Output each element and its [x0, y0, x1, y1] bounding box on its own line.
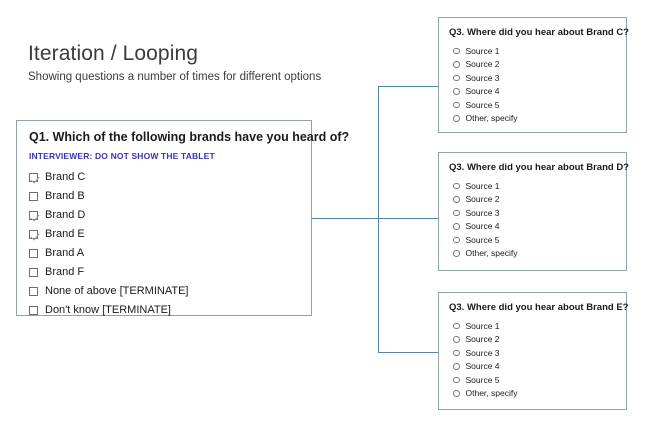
- radio-unchecked-icon[interactable]: [453, 115, 460, 122]
- q1-option-row[interactable]: None of above [TERMINATE]: [29, 283, 299, 301]
- q3-option-label: Source 2: [466, 195, 500, 204]
- radio-unchecked-icon[interactable]: [453, 48, 460, 55]
- radio-unchecked-icon[interactable]: [453, 390, 460, 397]
- q1-option-row[interactable]: Brand E: [29, 226, 299, 244]
- q3-option-row[interactable]: Source 1: [449, 319, 626, 333]
- q3-option-label: Source 2: [466, 335, 500, 344]
- q3-option-row[interactable]: Other, specify: [449, 247, 626, 261]
- checkbox-unchecked-icon[interactable]: [29, 268, 38, 277]
- q1-option-list: Brand CBrand BBrand DBrand EBrand ABrand…: [29, 169, 299, 320]
- q3-option-row[interactable]: Source 1: [449, 179, 626, 193]
- radio-unchecked-icon[interactable]: [453, 61, 460, 68]
- q3-option-row[interactable]: Source 3: [449, 206, 626, 220]
- q3-option-row[interactable]: Source 3: [449, 346, 626, 360]
- radio-unchecked-icon[interactable]: [453, 350, 460, 357]
- heading-block: Iteration / Looping Showing questions a …: [28, 42, 388, 85]
- q1-title: Q1. Which of the following brands have y…: [29, 130, 299, 146]
- page-title: Iteration / Looping: [28, 42, 388, 66]
- question-card-q3-brand-d: Q3. Where did you hear about Brand D? So…: [438, 152, 627, 271]
- q1-option-label: Brand B: [45, 191, 85, 202]
- radio-unchecked-icon[interactable]: [453, 237, 460, 244]
- q3-title: Q3. Where did you hear about Brand E?: [449, 302, 626, 313]
- connector-branch-top: [378, 86, 438, 87]
- q1-interviewer-note: INTERVIEWER: DO NOT SHOW THE TABLET: [29, 151, 299, 161]
- q1-option-row[interactable]: Brand B: [29, 188, 299, 206]
- radio-unchecked-icon[interactable]: [453, 196, 460, 203]
- q1-option-label: None of above [TERMINATE]: [45, 286, 188, 297]
- q3-option-row[interactable]: Source 2: [449, 333, 626, 347]
- checkbox-unchecked-icon[interactable]: [29, 306, 38, 315]
- q3-option-label: Source 5: [466, 101, 500, 110]
- checkbox-checked-icon[interactable]: [29, 230, 38, 239]
- q3-option-label: Other, specify: [466, 114, 518, 123]
- question-card-q3-brand-e: Q3. Where did you hear about Brand E? So…: [438, 292, 627, 410]
- checkbox-unchecked-icon[interactable]: [29, 287, 38, 296]
- q1-option-label: Brand C: [45, 172, 85, 183]
- q3-option-label: Other, specify: [466, 389, 518, 398]
- connector-branch-bottom: [378, 352, 438, 353]
- q3-title: Q3. Where did you hear about Brand D?: [449, 162, 626, 173]
- radio-unchecked-icon[interactable]: [453, 102, 460, 109]
- q3-option-label: Source 1: [466, 47, 500, 56]
- q1-option-label: Don't know [TERMINATE]: [45, 305, 171, 316]
- q3-option-label: Source 3: [466, 74, 500, 83]
- checkbox-unchecked-icon[interactable]: [29, 192, 38, 201]
- q1-option-row[interactable]: Brand F: [29, 264, 299, 282]
- diagram-canvas: Iteration / Looping Showing questions a …: [0, 0, 652, 429]
- q3-option-row[interactable]: Source 4: [449, 360, 626, 374]
- q3-option-label: Source 5: [466, 376, 500, 385]
- q3-option-label: Other, specify: [466, 249, 518, 258]
- q1-option-label: Brand E: [45, 229, 85, 240]
- q3-option-list: Source 1Source 2Source 3Source 4Source 5…: [449, 319, 626, 400]
- radio-unchecked-icon[interactable]: [453, 75, 460, 82]
- radio-unchecked-icon[interactable]: [453, 336, 460, 343]
- radio-unchecked-icon[interactable]: [453, 210, 460, 217]
- q3-option-label: Source 3: [466, 209, 500, 218]
- q1-option-row[interactable]: Brand A: [29, 245, 299, 263]
- q1-option-label: Brand A: [45, 248, 84, 259]
- q3-option-label: Source 5: [466, 236, 500, 245]
- q1-option-label: Brand D: [45, 210, 85, 221]
- q3-option-row[interactable]: Other, specify: [449, 112, 626, 126]
- q3-option-label: Source 4: [466, 222, 500, 231]
- radio-unchecked-icon[interactable]: [453, 183, 460, 190]
- checkbox-checked-icon[interactable]: [29, 211, 38, 220]
- q3-option-row[interactable]: Source 2: [449, 58, 626, 72]
- page-subtitle: Showing questions a number of times for …: [28, 71, 388, 85]
- q3-option-row[interactable]: Source 5: [449, 373, 626, 387]
- q1-option-row[interactable]: Don't know [TERMINATE]: [29, 302, 299, 320]
- q3-option-row[interactable]: Source 1: [449, 44, 626, 58]
- radio-unchecked-icon[interactable]: [453, 250, 460, 257]
- radio-unchecked-icon[interactable]: [453, 323, 460, 330]
- connector-stem: [311, 218, 438, 219]
- connector-trunk: [378, 86, 379, 353]
- q1-option-row[interactable]: Brand C: [29, 169, 299, 187]
- checkbox-unchecked-icon[interactable]: [29, 249, 38, 258]
- q3-option-label: Source 1: [466, 322, 500, 331]
- radio-unchecked-icon[interactable]: [453, 377, 460, 384]
- q3-option-row[interactable]: Source 2: [449, 193, 626, 207]
- q3-option-list: Source 1Source 2Source 3Source 4Source 5…: [449, 179, 626, 260]
- radio-unchecked-icon[interactable]: [453, 223, 460, 230]
- q3-option-row[interactable]: Source 4: [449, 220, 626, 234]
- q3-option-label: Source 1: [466, 182, 500, 191]
- question-card-q1: Q1. Which of the following brands have y…: [16, 120, 312, 316]
- radio-unchecked-icon[interactable]: [453, 88, 460, 95]
- q3-option-row[interactable]: Source 5: [449, 98, 626, 112]
- q3-option-row[interactable]: Source 3: [449, 71, 626, 85]
- checkbox-checked-icon[interactable]: [29, 173, 38, 182]
- q3-option-row[interactable]: Other, specify: [449, 387, 626, 401]
- q3-option-list: Source 1Source 2Source 3Source 4Source 5…: [449, 44, 626, 125]
- q3-title: Q3. Where did you hear about Brand C?: [449, 27, 626, 38]
- q1-option-label: Brand F: [45, 267, 84, 278]
- q3-option-row[interactable]: Source 5: [449, 233, 626, 247]
- radio-unchecked-icon[interactable]: [453, 363, 460, 370]
- question-card-q3-brand-c: Q3. Where did you hear about Brand C? So…: [438, 17, 627, 133]
- q3-option-label: Source 2: [466, 60, 500, 69]
- q3-option-label: Source 4: [466, 362, 500, 371]
- q3-option-label: Source 4: [466, 87, 500, 96]
- q3-option-label: Source 3: [466, 349, 500, 358]
- q1-option-row[interactable]: Brand D: [29, 207, 299, 225]
- q3-option-row[interactable]: Source 4: [449, 85, 626, 99]
